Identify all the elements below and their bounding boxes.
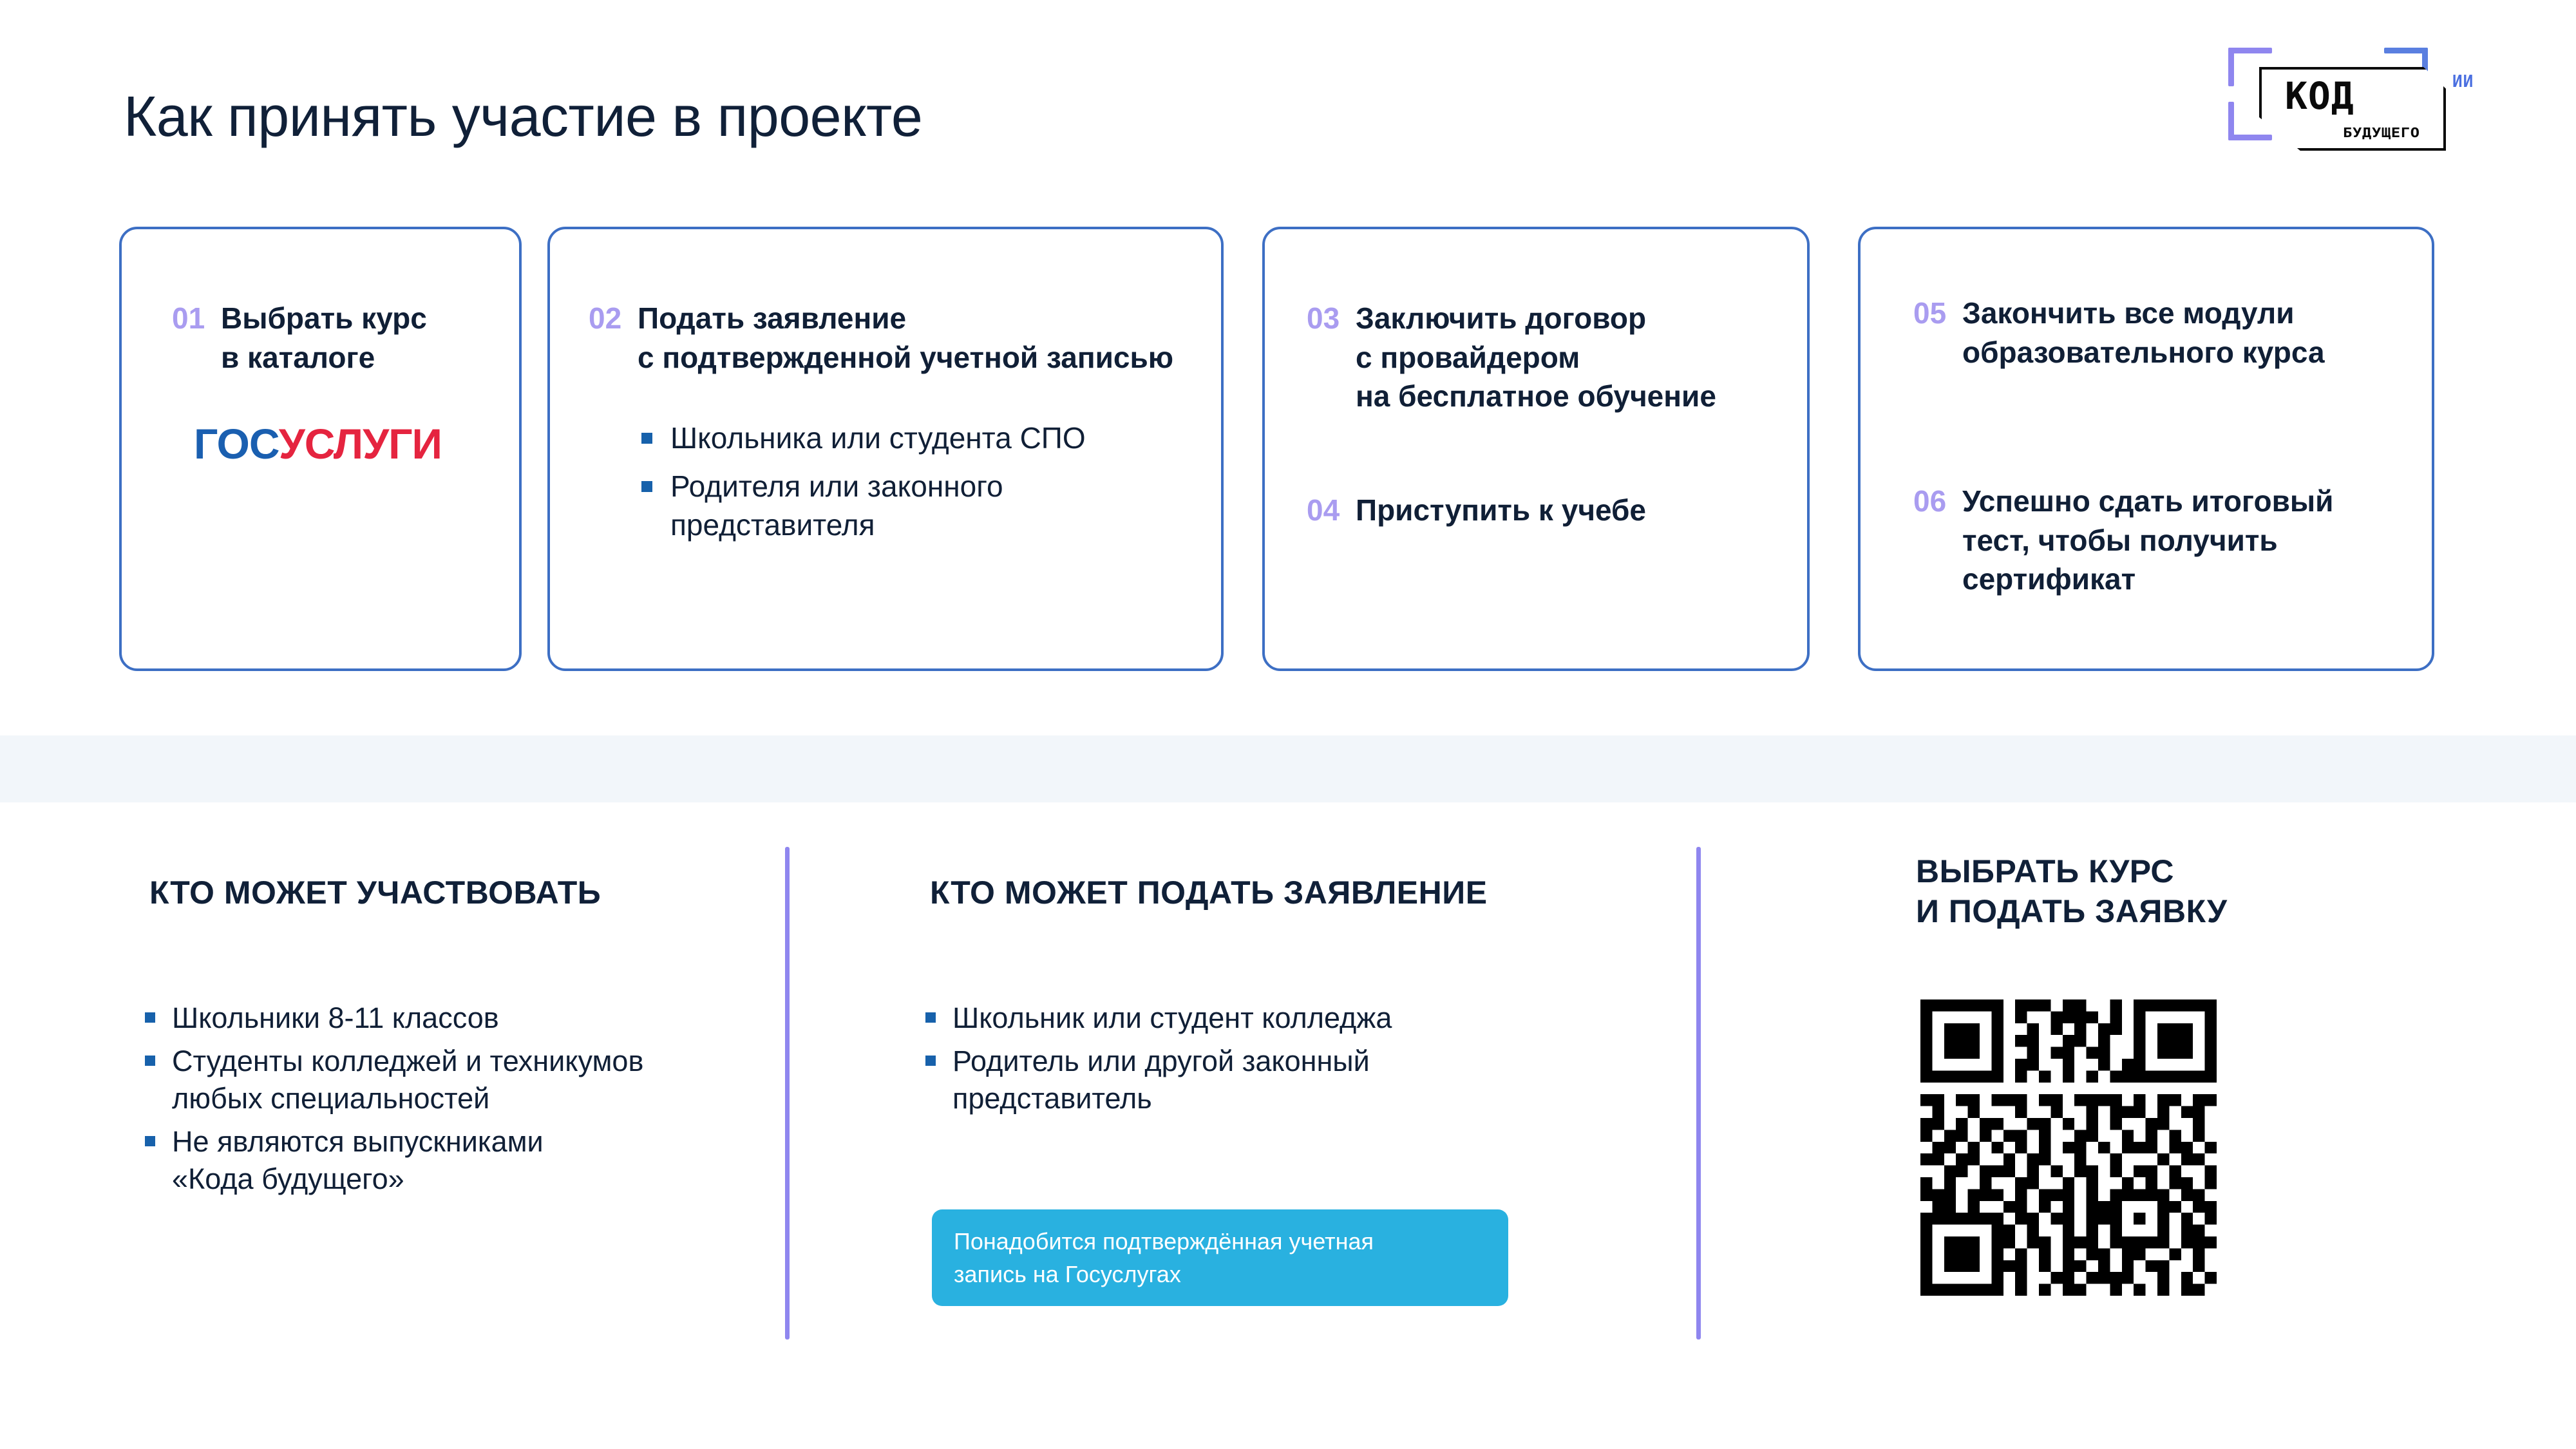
- step-card-4: 05 Закончить все модули образовательного…: [1858, 227, 2434, 671]
- step-label: Успешно сдать итоговый тест, чтобы получ…: [1962, 482, 2333, 599]
- gosuslugi-logo-part1: ГОС: [194, 420, 279, 468]
- bullet-square-icon: [925, 1056, 936, 1066]
- step-number: 06: [1913, 482, 1962, 521]
- list-item-label: Школьники 8-11 классов: [172, 999, 499, 1037]
- bullet-square-icon: [925, 1012, 936, 1023]
- step-04: 04 Приступить к учебе: [1307, 491, 1815, 530]
- list-item-label: Не являются выпускниками «Кода будущего»: [172, 1123, 544, 1198]
- list-item-label: Школьник или студент колледжа: [952, 999, 1392, 1037]
- step-number: 01: [172, 299, 221, 338]
- list-item: Родителя или законного представителя: [641, 467, 1208, 545]
- list-item-label: Родителя или законного представителя: [670, 467, 1003, 545]
- step-card-1: 01 Выбрать курс в каталоге ГОСУСЛУГИ: [119, 227, 522, 671]
- section-heading-participate: КТО МОЖЕТ УЧАСТВОВАТЬ: [149, 873, 601, 913]
- section-divider-band: [0, 735, 2576, 802]
- step-02-bullets: Школьника или студента СПО Родителя или …: [641, 419, 1208, 554]
- list-item-label: Родитель или другой законный представите…: [952, 1043, 1370, 1118]
- logo-ai-badge: ИИ: [2452, 72, 2474, 91]
- brand-logo: КОД БУДУЩЕГО ИИ: [2228, 44, 2486, 173]
- step-number: 04: [1307, 491, 1356, 530]
- step-number: 02: [589, 299, 638, 338]
- bullet-square-icon: [145, 1012, 155, 1023]
- list-item: Родитель или другой законный представите…: [925, 1043, 1544, 1118]
- info-callout-text: Понадобится подтверждённая учетная запис…: [932, 1225, 1396, 1291]
- step-label: Закончить все модули образовательного ку…: [1962, 294, 2325, 372]
- list-item: Школьники 8-11 классов: [145, 999, 763, 1037]
- section-heading-apply: КТО МОЖЕТ ПОДАТЬ ЗАЯВЛЕНИЕ: [930, 873, 1488, 913]
- qr-code[interactable]: [1920, 999, 2217, 1296]
- step-label: Заключить договор с провайдером на беспл…: [1356, 299, 1716, 416]
- step-label: Подать заявление с подтвержденной учетно…: [638, 299, 1173, 377]
- step-01: 01 Выбрать курс в каталоге: [172, 299, 507, 377]
- step-02: 02 Подать заявление с подтвержденной уче…: [589, 299, 1220, 377]
- vertical-divider-1: [785, 847, 790, 1340]
- step-number: 03: [1307, 299, 1356, 338]
- steps-row: 01 Выбрать курс в каталоге ГОСУСЛУГИ 02 …: [0, 227, 2576, 671]
- page-title: Как принять участие в проекте: [124, 84, 922, 149]
- list-item: Школьник или студент колледжа: [925, 999, 1544, 1037]
- list-item: Не являются выпускниками «Кода будущего»: [145, 1123, 763, 1198]
- section-1-bullets: Школьники 8-11 классов Студенты колледже…: [145, 999, 763, 1204]
- info-callout-box: Понадобится подтверждённая учетная запис…: [932, 1209, 1508, 1306]
- section-heading-choose-course: ВЫБРАТЬ КУРС И ПОДАТЬ ЗАЯВКУ: [1916, 851, 2227, 931]
- step-label: Выбрать курс в каталоге: [221, 299, 427, 377]
- step-card-3: 03 Заключить договор с провайдером на бе…: [1262, 227, 1810, 671]
- step-03: 03 Заключить договор с провайдером на бе…: [1307, 299, 1815, 416]
- list-item-label: Студенты колледжей и техникумов любых сп…: [172, 1043, 643, 1118]
- bullet-square-icon: [145, 1056, 155, 1066]
- bullet-square-icon: [641, 433, 652, 444]
- step-label: Приступить к учебе: [1356, 491, 1646, 530]
- gosuslugi-logo-part2: УСЛУГИ: [279, 420, 442, 468]
- bullet-square-icon: [641, 481, 652, 492]
- list-item: Школьника или студента СПО: [641, 419, 1208, 458]
- section-2-bullets: Школьник или студент колледжа Родитель и…: [925, 999, 1544, 1123]
- vertical-divider-2: [1696, 847, 1701, 1340]
- step-05: 05 Закончить все модули образовательного…: [1913, 294, 2435, 372]
- gosuslugi-logo: ГОСУСЛУГИ: [194, 422, 442, 465]
- logo-name: КОД: [2285, 77, 2354, 115]
- bullet-square-icon: [145, 1136, 155, 1146]
- step-card-2: 02 Подать заявление с подтвержденной уче…: [547, 227, 1224, 671]
- step-06: 06 Успешно сдать итоговый тест, чтобы по…: [1913, 482, 2435, 599]
- list-item-label: Школьника или студента СПО: [670, 419, 1086, 458]
- step-number: 05: [1913, 294, 1962, 333]
- list-item: Студенты колледжей и техникумов любых сп…: [145, 1043, 763, 1118]
- logo-subtitle: БУДУЩЕГО: [2343, 126, 2420, 139]
